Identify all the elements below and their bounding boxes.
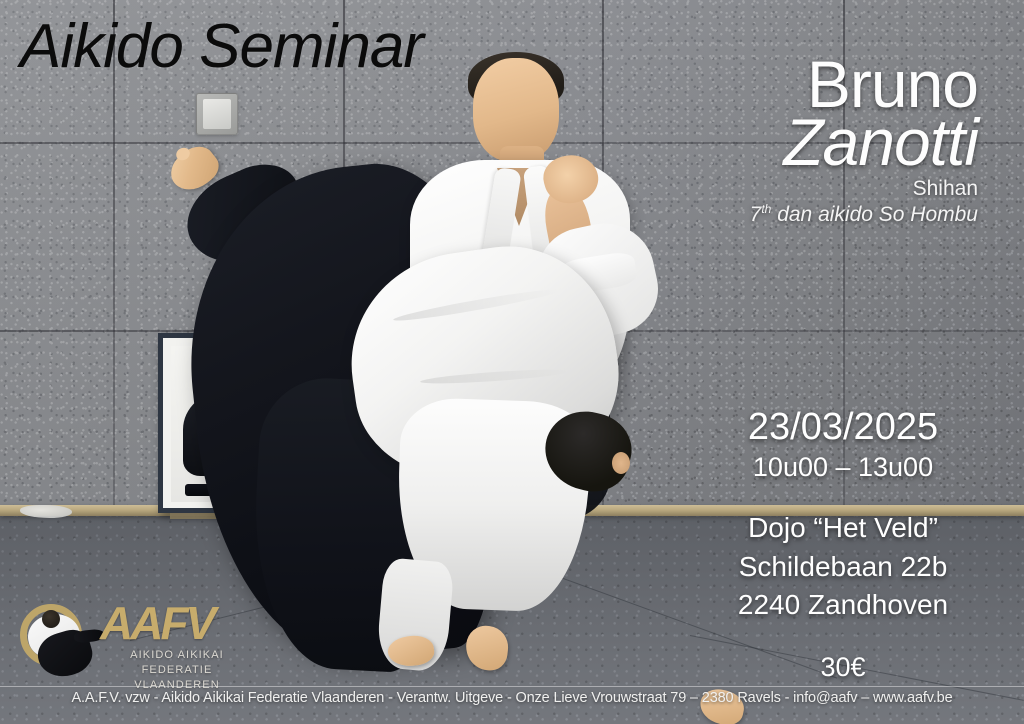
light-switch-icon <box>196 93 238 135</box>
event-time: 10u00 – 13u00 <box>708 448 978 487</box>
venue-block: Dojo “Het Veld” Schildebaan 22b 2240 Zan… <box>708 509 978 625</box>
venue-city: 2240 Zandhoven <box>708 586 978 625</box>
rank-line-rest: dan aikido So Hombu <box>771 203 978 226</box>
poster-title: Aikido Seminar <box>20 16 423 78</box>
footer-text: A.A.F.V. vzw - Aikido Aikikai Federatie … <box>0 690 1024 706</box>
logo-subtitle-line-1: AIKIDO AIKIKAI <box>102 648 252 663</box>
logo-subtitle-line-2: FEDERATIE VLAANDEREN <box>102 663 252 693</box>
logo-wordmark: AAFV <box>100 600 213 646</box>
instructor-rank-line: 7th dan aikido So Hombu <box>750 202 978 227</box>
aikido-seminar-poster: Aikido Seminar Bruno Zanotti Shihan 7th … <box>0 0 1024 724</box>
venue-name: Dojo “Het Veld” <box>708 509 978 548</box>
event-price: 30€ <box>708 651 978 683</box>
uke-ear <box>612 452 630 474</box>
instructor-rank-title: Shihan <box>750 177 978 201</box>
footer-divider <box>0 686 1024 687</box>
event-date: 23/03/2025 <box>708 408 978 448</box>
event-info-block: 23/03/2025 10u00 – 13u00 Dojo “Het Veld”… <box>708 408 978 683</box>
venue-street: Schildebaan 22b <box>708 548 978 587</box>
rank-ordinal: th <box>761 202 771 216</box>
instructor-last-name: Zanotti <box>750 111 978 173</box>
rank-number: 7 <box>750 203 762 226</box>
logo-figure-head <box>42 610 60 628</box>
instructor-name-block: Bruno Zanotti Shihan 7th dan aikido So H… <box>750 54 978 227</box>
aikido-throw-logo-icon <box>14 600 96 672</box>
aafv-logo: AAFV AIKIDO AIKIKAI FEDERATIE VLAANDEREN <box>14 598 244 678</box>
